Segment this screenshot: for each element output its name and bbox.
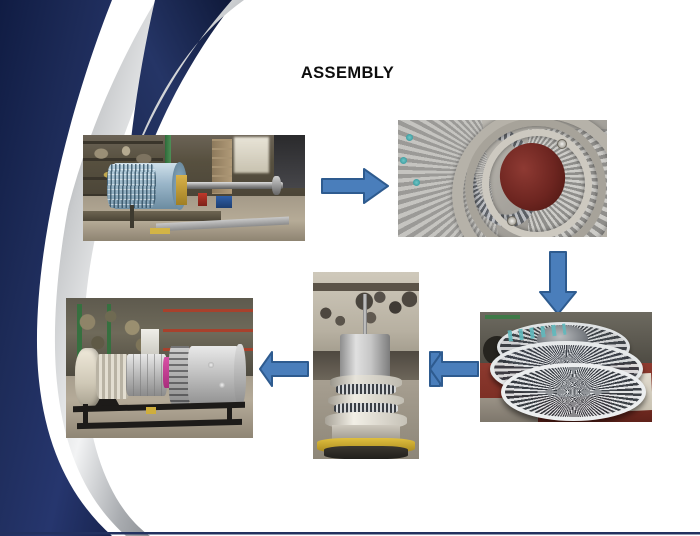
arrow-right-rotor-to-stator: right bbox=[320, 167, 390, 205]
stator-scene bbox=[398, 120, 607, 237]
engine-scene bbox=[66, 298, 253, 438]
photo-turbine-rotor: Turbine rotor with blades mounted on sha… bbox=[83, 135, 305, 241]
swoosh-white-gap bbox=[37, 0, 126, 536]
arrow-left-rings-to-vertical: left bbox=[428, 350, 480, 388]
photo-assembled-engine: Completed gas turbine engine on black st… bbox=[66, 298, 253, 438]
slide-canvas: ASSEMBLY Turbine rotor with blad bbox=[0, 0, 700, 536]
arrow-left-vertical-to-engine: left bbox=[258, 350, 310, 388]
photo-stacked-stator-rings: Stacked stator ring segments with blades… bbox=[480, 312, 652, 422]
swoosh-navy-main bbox=[0, 0, 120, 536]
rotor-scene bbox=[83, 135, 305, 241]
arrow-down-stator-to-rings: down bbox=[538, 250, 578, 316]
photo-stator-closeup: Close-up of stator rings and vanes with … bbox=[398, 120, 607, 237]
swoosh-silver-arc bbox=[50, 0, 186, 536]
vertical-scene bbox=[313, 272, 419, 459]
rings-scene bbox=[480, 312, 652, 422]
page-title: ASSEMBLY bbox=[215, 64, 480, 83]
photo-vertical-assembly: Rotor stack assembled vertically on yell… bbox=[313, 272, 419, 459]
bottom-navy-rule bbox=[0, 532, 700, 535]
